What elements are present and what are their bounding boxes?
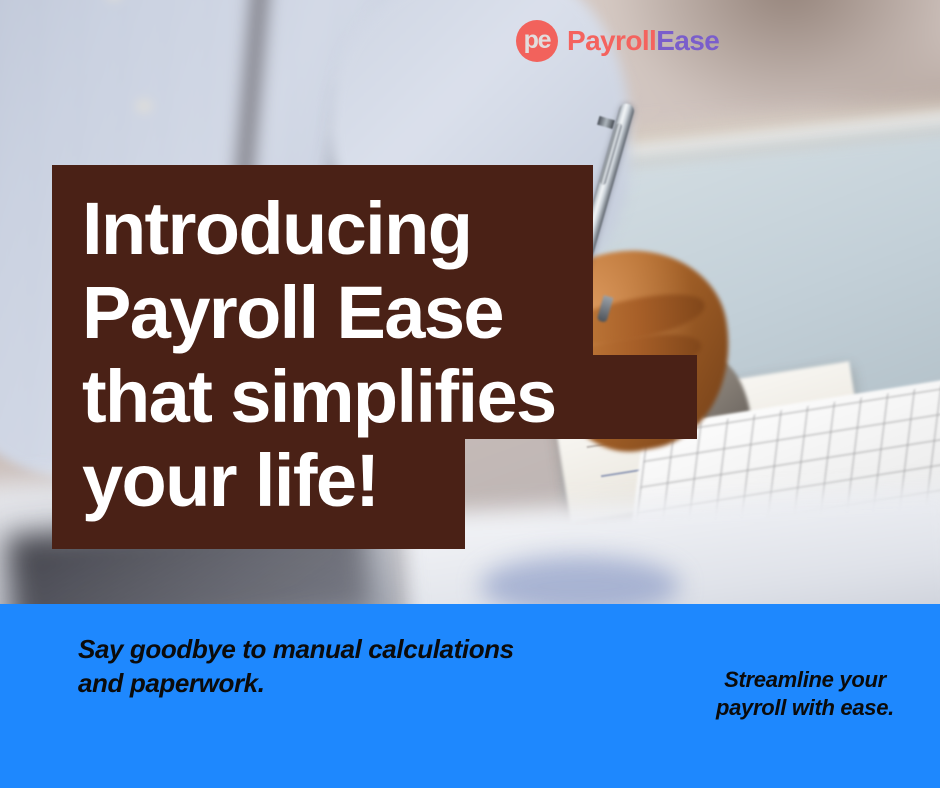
promotional-banner: pe PayrollEase Introducing Payroll Ease … (0, 0, 940, 788)
headline-row-2: Payroll Ease (52, 271, 593, 355)
headline-line-3: that simplifies (82, 355, 673, 439)
logo-word-ease: Ease (656, 25, 719, 56)
headline-line-4: your life! (82, 439, 441, 523)
brand-logo[interactable]: pe PayrollEase (516, 20, 719, 62)
logo-wordmark: PayrollEase (567, 27, 719, 55)
headline-line-1: Introducing (82, 187, 569, 271)
logo-monogram: pe (524, 28, 551, 53)
logo-circle-icon: pe (516, 20, 558, 62)
photo-shirt-button (136, 100, 152, 112)
headline-row-1: Introducing (52, 165, 593, 271)
tagline-left: Say goodbye to manual calculations and p… (78, 632, 518, 700)
headline-line-2: Payroll Ease (82, 271, 569, 355)
tagline-right: Streamline your payroll with ease. (690, 666, 920, 722)
headline-row-4: your life! (52, 439, 465, 549)
headline-row-3: that simplifies (52, 355, 697, 439)
headline-block: Introducing Payroll Ease that simplifies… (52, 165, 697, 549)
logo-word-payroll: Payroll (567, 25, 656, 56)
